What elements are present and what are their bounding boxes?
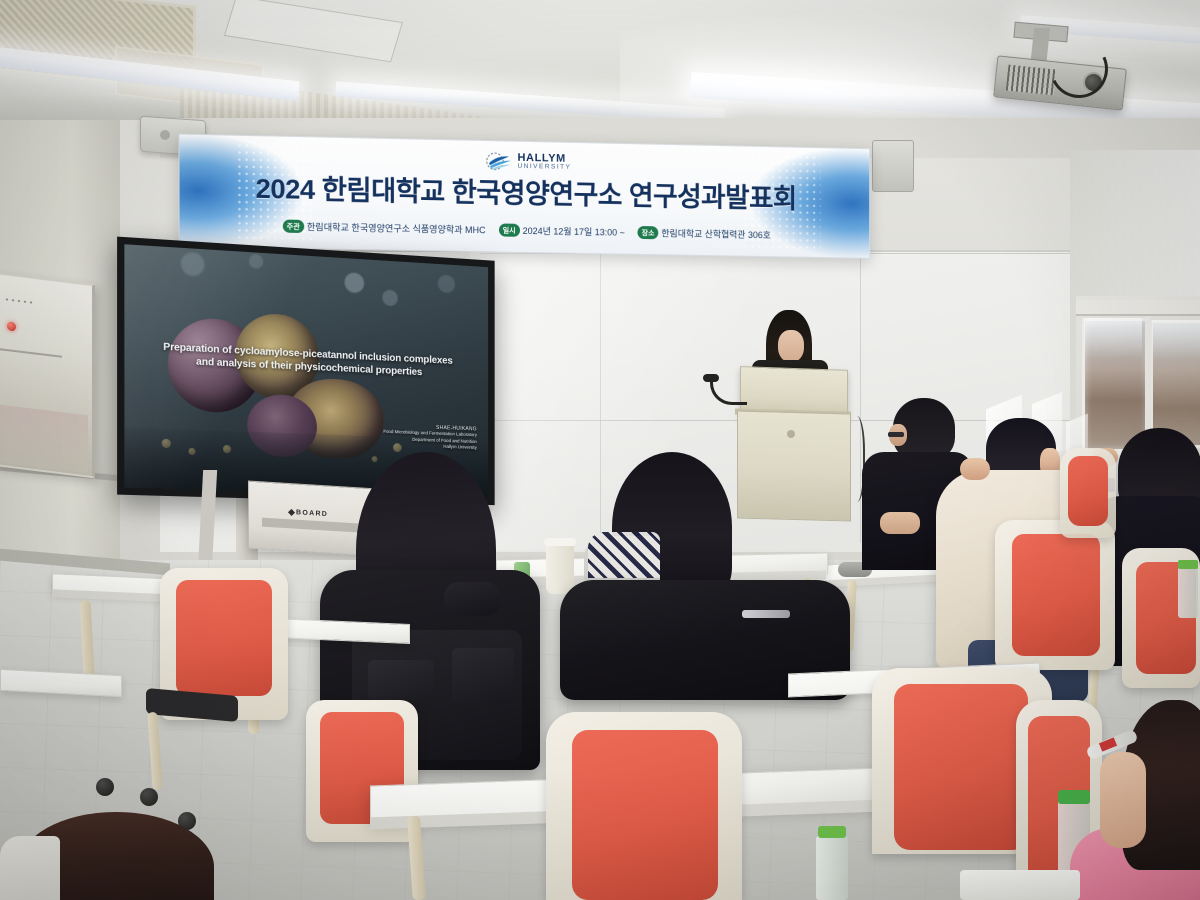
wall-speaker-driver bbox=[160, 130, 170, 140]
event-banner: HALLYM UNIVERSITY 2024 한림대학교 한국영양연구소 연구성… bbox=[179, 134, 871, 259]
banner-detail-location: 장소 한림대학교 산학협력관 306호 bbox=[638, 226, 771, 241]
chair-caster bbox=[140, 788, 158, 806]
conference-room-photo: HALLYM UNIVERSITY 2024 한림대학교 한국영양연구소 연구성… bbox=[0, 0, 1200, 900]
backpack-pocket bbox=[368, 660, 434, 700]
thermal-tumbler bbox=[546, 542, 574, 594]
hallym-swoosh-icon bbox=[486, 150, 512, 173]
banner-detail-datetime: 일시 2024년 12월 17일 13:00 ~ bbox=[499, 223, 625, 238]
tumbler-lid bbox=[544, 538, 576, 546]
backpack-pocket bbox=[452, 648, 514, 704]
diamond-icon bbox=[288, 509, 295, 516]
folded-garment bbox=[444, 582, 500, 616]
desk-caster bbox=[96, 778, 114, 796]
chair-backrest bbox=[1012, 534, 1100, 656]
banner-location-text: 한림대학교 산학협력관 306호 bbox=[661, 226, 770, 241]
banner-host-text: 한림대학교 한국영양연구소 식품영양학과 MHC bbox=[307, 220, 486, 236]
audience-shoulder bbox=[0, 836, 60, 900]
podium-body bbox=[737, 411, 851, 522]
audience-hand bbox=[960, 458, 990, 480]
cabinet-status-led bbox=[7, 321, 16, 331]
wall-speaker-right bbox=[872, 140, 914, 192]
window-glare bbox=[1152, 320, 1200, 358]
paper-handout bbox=[960, 870, 1080, 900]
audience-arm bbox=[1100, 752, 1146, 848]
hallym-wordmark: HALLYM UNIVERSITY bbox=[517, 153, 571, 172]
green-bottle bbox=[1178, 566, 1198, 618]
chair-backrest bbox=[1068, 456, 1108, 526]
fair-isle-pattern bbox=[588, 532, 660, 578]
hallym-subtitle: UNIVERSITY bbox=[517, 164, 571, 172]
water-bottle bbox=[816, 836, 848, 900]
badge-location: 장소 bbox=[638, 226, 659, 239]
chair-backrest bbox=[572, 730, 718, 900]
microphone-icon bbox=[703, 374, 719, 382]
cabinet-reflection bbox=[0, 405, 88, 474]
jacket-logo bbox=[742, 610, 790, 618]
bottle-cap bbox=[1178, 560, 1198, 569]
chair-backrest bbox=[176, 580, 272, 696]
window-header-trim bbox=[1076, 300, 1200, 316]
projector-vent-grille bbox=[1006, 65, 1056, 96]
bottle-cap bbox=[818, 826, 846, 838]
badge-host: 주관 bbox=[283, 220, 304, 233]
podium-latch bbox=[787, 430, 795, 438]
audience-hand bbox=[880, 512, 920, 534]
banner-datetime-text: 2024년 12월 17일 13:00 ~ bbox=[523, 224, 625, 239]
presenter-face bbox=[778, 330, 804, 362]
bottle-cap bbox=[1058, 790, 1090, 804]
window-glare bbox=[1084, 318, 1142, 358]
badge-datetime: 일시 bbox=[499, 223, 520, 236]
chair-backrest bbox=[894, 684, 1028, 850]
glasses-icon bbox=[888, 432, 904, 437]
